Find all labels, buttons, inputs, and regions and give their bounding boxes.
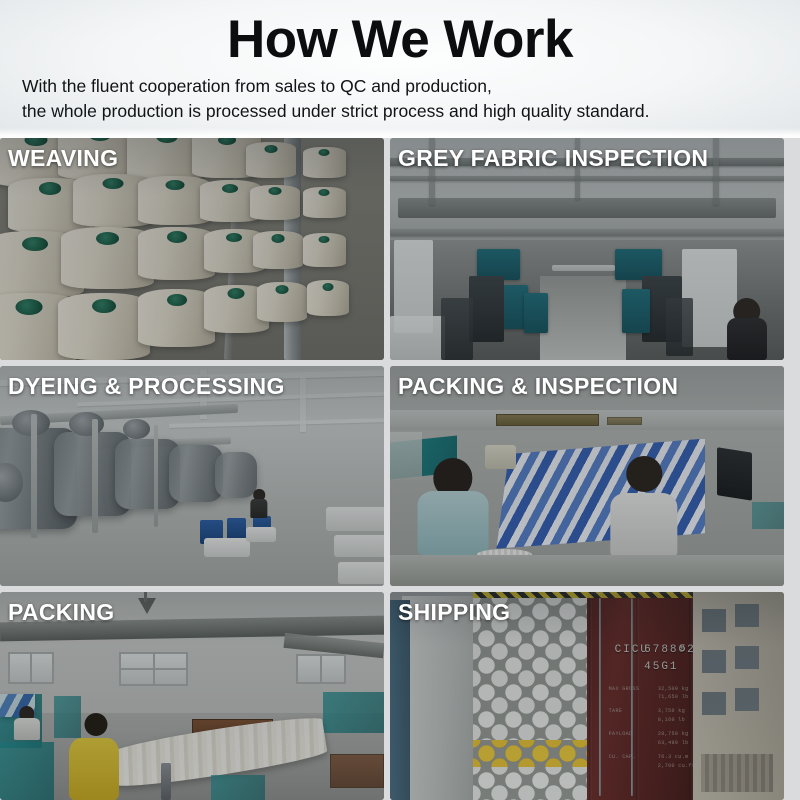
process-cell-packing[interactable]: PACKING <box>0 592 384 800</box>
subtitle-line-1: With the fluent cooperation from sales t… <box>0 74 800 99</box>
process-cell-packing-inspection[interactable]: PACKING & INSPECTION <box>390 366 784 586</box>
cell-label-weaving: WEAVING <box>8 145 118 172</box>
cell-label-packing-inspection: PACKING & INSPECTION <box>398 373 678 400</box>
process-cell-shipping[interactable]: CICU 678802 5 45G1 MAX GROSS 32,500 kg 7… <box>390 592 784 800</box>
process-cell-dyeing-processing[interactable]: DYEING & PROCESSING <box>0 366 384 586</box>
subtitle-line-2: the whole production is processed under … <box>0 99 800 124</box>
cell-label-packing: PACKING <box>8 599 114 626</box>
cell-label-shipping: SHIPPING <box>398 599 510 626</box>
process-cell-grey-fabric-inspection[interactable]: GREY FABRIC INSPECTION <box>390 138 784 360</box>
cell-label-grey-fabric-inspection: GREY FABRIC INSPECTION <box>398 145 708 172</box>
process-cell-weaving[interactable]: WEAVING <box>0 138 384 360</box>
cell-label-dyeing-processing: DYEING & PROCESSING <box>8 373 285 400</box>
page-header: How We Work With the fluent cooperation … <box>0 0 800 138</box>
page-title: How We Work <box>0 0 800 70</box>
how-we-work-page: How We Work With the fluent cooperation … <box>0 0 800 800</box>
process-grid: WEAVING <box>0 138 800 800</box>
